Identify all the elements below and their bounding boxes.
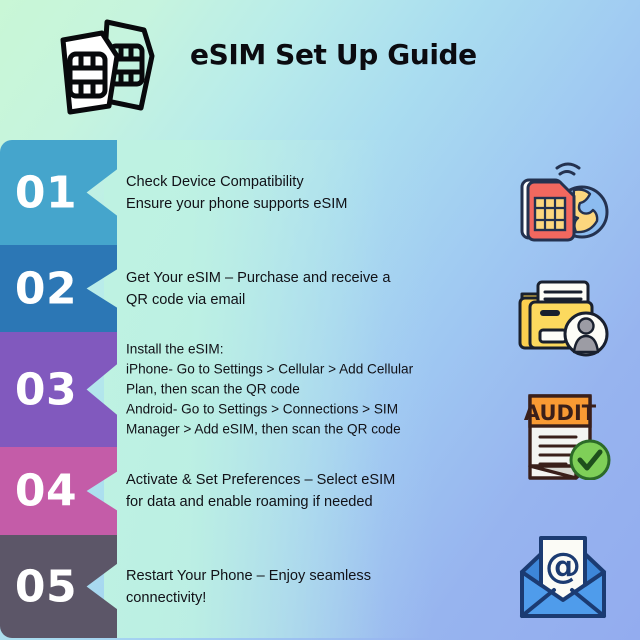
step-description: Check Device Compatibility Ensure your p… (126, 170, 456, 214)
step-text-line: Restart Your Phone – Enjoy seamless (126, 564, 456, 586)
step-number-label: 02 (0, 263, 92, 314)
step-text-line: Manager > Add eSIM, then scan the QR cod… (126, 420, 456, 440)
step-text-line: Check Device Compatibility (126, 170, 456, 192)
step-text-line: Install the eSIM: (126, 339, 456, 359)
step-text-line: Android- Go to Settings > Connections > … (126, 400, 456, 420)
step-description: Get Your eSIM – Purchase and receive a Q… (126, 266, 456, 310)
step-text-line: iPhone- Go to Settings > Cellular > Add … (126, 359, 456, 379)
step-text-line: for data and enable roaming if needed (126, 491, 456, 513)
page-title: eSIM Set Up Guide (190, 38, 610, 71)
step-text-line: QR code via email (126, 289, 456, 311)
step-description: Install the eSIM: iPhone- Go to Settings… (126, 339, 456, 440)
at-symbol: @ (545, 546, 581, 587)
esim-setup-infographic: eSIM Set Up Guide 01 Check Device Compat… (0, 0, 640, 640)
header: eSIM Set Up Guide (0, 0, 640, 130)
step-text-line: Ensure your phone supports eSIM (126, 193, 456, 215)
step-text-line: connectivity! (126, 587, 456, 609)
step-description: Activate & Set Preferences – Select eSIM… (126, 469, 456, 513)
folder-user-icon (516, 272, 612, 360)
step-text-line: Activate & Set Preferences – Select eSIM (126, 469, 456, 491)
dual-sim-card-icon (45, 16, 160, 116)
step-number-label: 03 (0, 364, 92, 415)
step-number-label: 04 (0, 466, 92, 517)
sim-globe-icon (516, 160, 612, 252)
step-description: Restart Your Phone – Enjoy seamless conn… (126, 564, 456, 608)
step-number-label: 05 (0, 561, 92, 612)
audit-label: AUDIT (524, 401, 597, 425)
step-number-label: 01 (0, 167, 92, 218)
audit-document-check-icon: AUDIT (520, 388, 612, 480)
step-text-line: Plan, then scan the QR code (126, 379, 456, 399)
step-text-line: Get Your eSIM – Purchase and receive a (126, 266, 456, 288)
email-envelope-icon: @ (514, 534, 612, 624)
